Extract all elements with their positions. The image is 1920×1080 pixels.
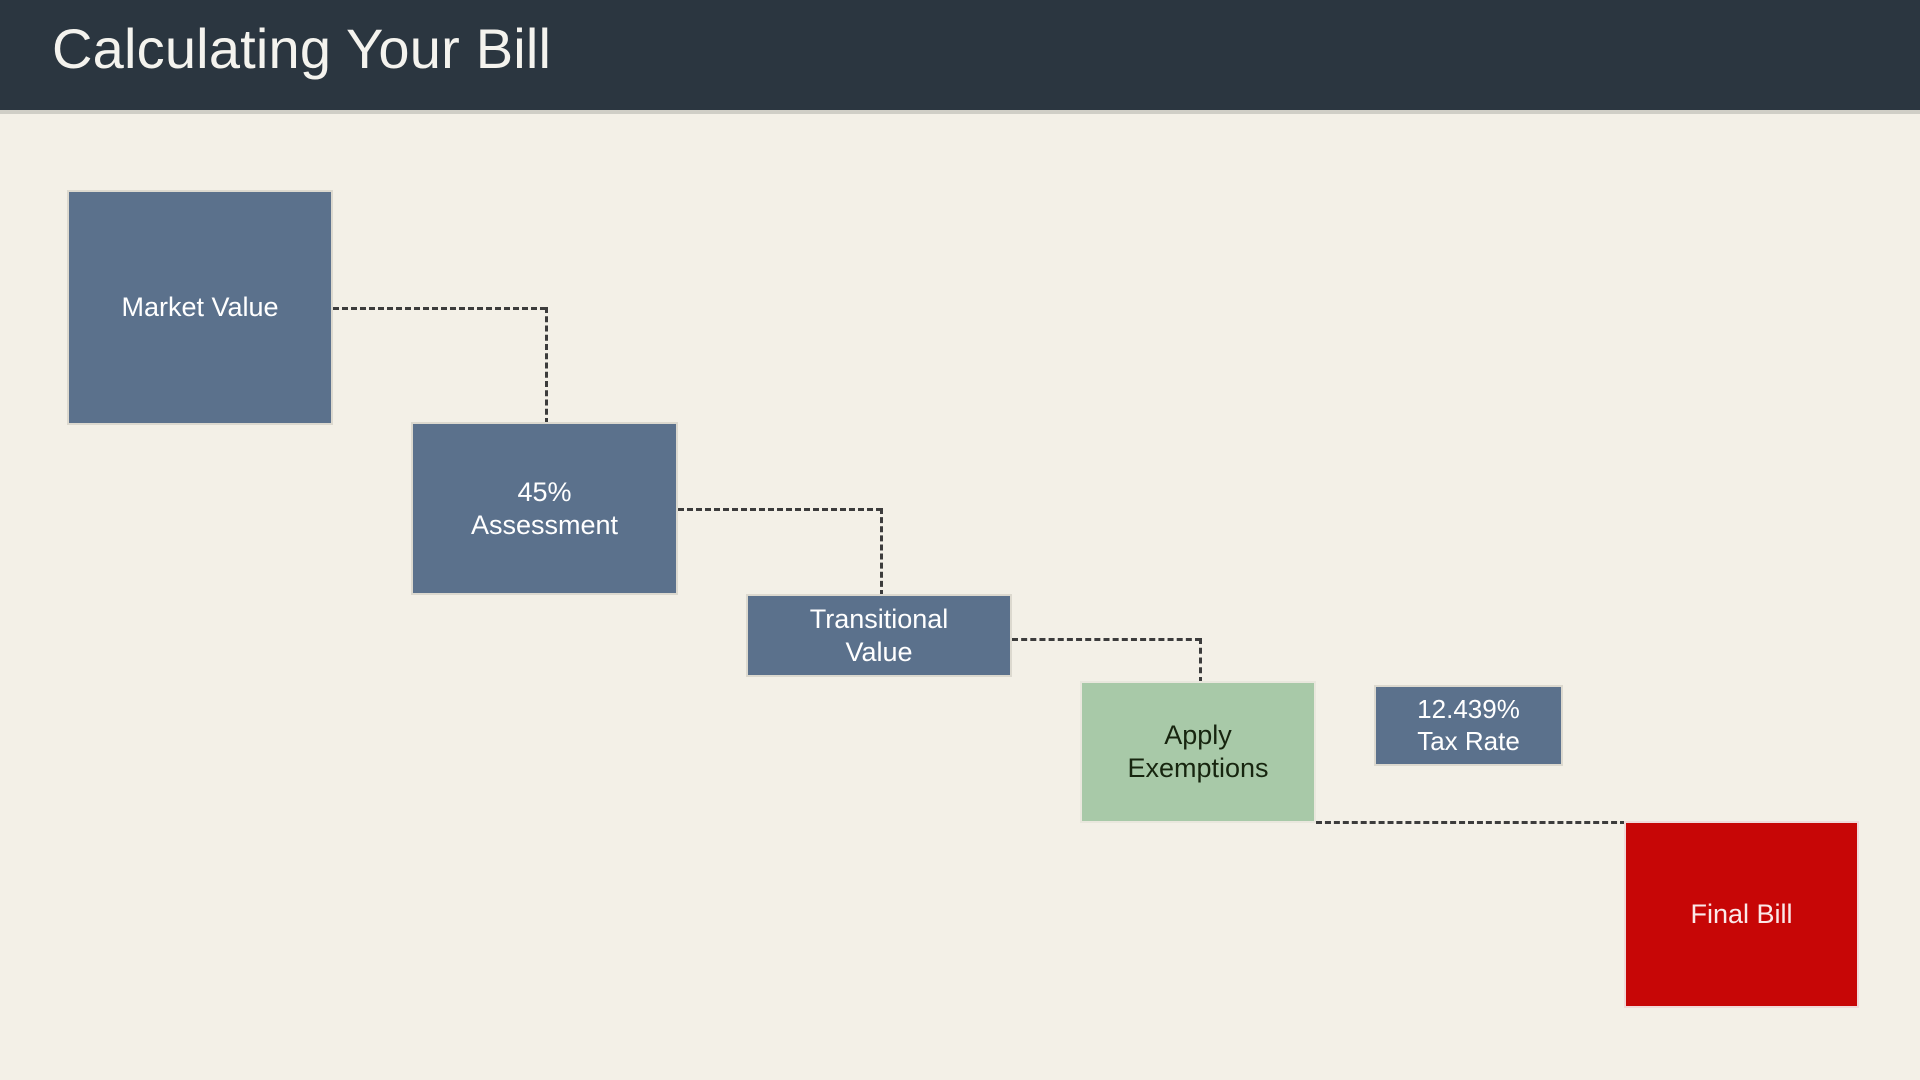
connector-market-value-to-assessment-horizontal (333, 307, 546, 310)
flow-node-assessment[interactable]: 45% Assessment (411, 422, 678, 595)
connector-exemptions-to-final-bill-horizontal (1316, 821, 1626, 824)
slide-canvas: Calculating Your Bill Market Value 45% A… (0, 0, 1920, 1080)
flow-node-final-bill[interactable]: Final Bill (1624, 821, 1859, 1008)
flow-node-market-value-label: Market Value (115, 291, 284, 324)
flow-node-final-bill-label: Final Bill (1684, 898, 1798, 931)
flow-node-assessment-label: 45% Assessment (465, 476, 624, 542)
flow-node-market-value[interactable]: Market Value (67, 190, 333, 425)
flow-node-tax-rate-label: 12.439% Tax Rate (1411, 694, 1526, 757)
connector-assessment-to-transitional-vertical (880, 508, 883, 596)
connector-market-value-to-assessment-vertical (545, 307, 548, 424)
flow-node-apply-exemptions-label: Apply Exemptions (1121, 719, 1274, 785)
connector-transitional-to-exemptions-horizontal (1012, 638, 1201, 641)
header-bar: Calculating Your Bill (0, 0, 1920, 110)
flow-node-transitional-value-label: Transitional Value (804, 603, 955, 669)
flow-node-tax-rate[interactable]: 12.439% Tax Rate (1374, 685, 1563, 766)
connector-assessment-to-transitional-horizontal (678, 508, 882, 511)
flow-node-transitional-value[interactable]: Transitional Value (746, 594, 1012, 677)
flow-node-apply-exemptions[interactable]: Apply Exemptions (1080, 681, 1316, 823)
connector-transitional-to-exemptions-vertical (1199, 638, 1202, 683)
header-divider (0, 110, 1920, 114)
page-title: Calculating Your Bill (52, 16, 551, 81)
